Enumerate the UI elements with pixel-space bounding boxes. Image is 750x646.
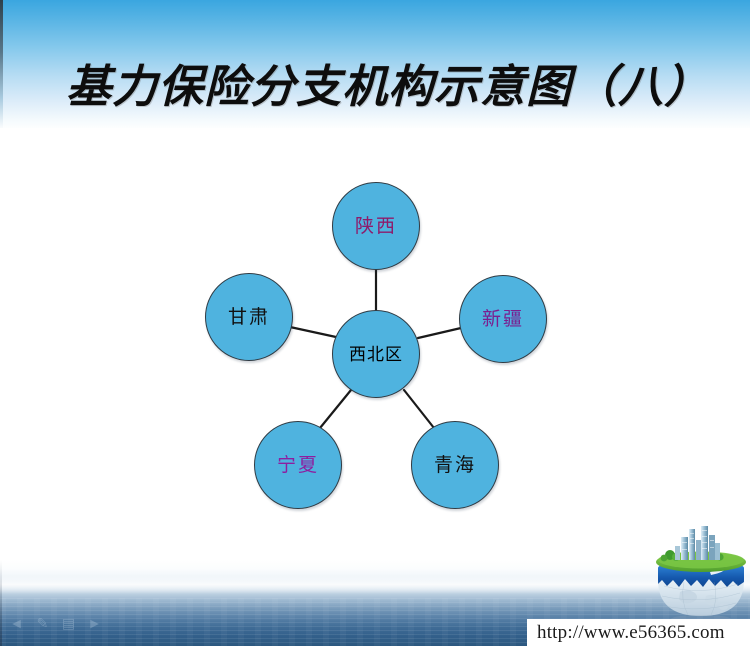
diagram-node-label: 宁夏 bbox=[277, 456, 319, 475]
diagram-edge-center-xinjiang bbox=[418, 328, 461, 338]
diagram-edge-center-qinghai bbox=[404, 390, 434, 428]
diagram-node-ningxia[interactable]: 宁夏 bbox=[254, 421, 342, 509]
slide-menu-icon[interactable]: ▤ bbox=[60, 618, 77, 633]
eco-globe-logo-icon bbox=[654, 524, 748, 624]
diagram-node-label: 甘肃 bbox=[228, 308, 270, 327]
diagram-node-label: 陕西 bbox=[355, 217, 397, 236]
diagram-node-label: 新疆 bbox=[482, 310, 524, 329]
presenter-nav-controls[interactable]: ◄ ✎ ▤ ► bbox=[8, 616, 114, 634]
diagram-node-label: 西北区 bbox=[349, 346, 403, 363]
diagram-node-xinjiang[interactable]: 新疆 bbox=[459, 275, 547, 363]
website-url-text: http://www.e56365.com bbox=[527, 622, 725, 644]
diagram-node-center[interactable]: 西北区 bbox=[332, 310, 420, 398]
org-structure-diagram: 西北区 陕西 甘肃 新疆 宁夏 青海 bbox=[0, 0, 750, 646]
diagram-edge-center-gansu bbox=[290, 327, 336, 337]
presentation-slide: 基力保险分支机构示意图（八） 西北区 陕西 甘肃 新疆 宁夏 青海 bbox=[0, 0, 750, 646]
diagram-node-qinghai[interactable]: 青海 bbox=[411, 421, 499, 509]
diagram-node-label: 青海 bbox=[434, 456, 476, 475]
next-slide-icon[interactable]: ► bbox=[86, 618, 103, 633]
website-url-box[interactable]: http://www.e56365.com bbox=[527, 619, 750, 646]
previous-slide-icon[interactable]: ◄ bbox=[8, 618, 25, 633]
diagram-edge-center-ningxia bbox=[320, 390, 351, 428]
diagram-node-gansu[interactable]: 甘肃 bbox=[205, 273, 293, 361]
pen-tool-icon[interactable]: ✎ bbox=[34, 618, 51, 633]
diagram-node-shaanxi[interactable]: 陕西 bbox=[332, 182, 420, 270]
